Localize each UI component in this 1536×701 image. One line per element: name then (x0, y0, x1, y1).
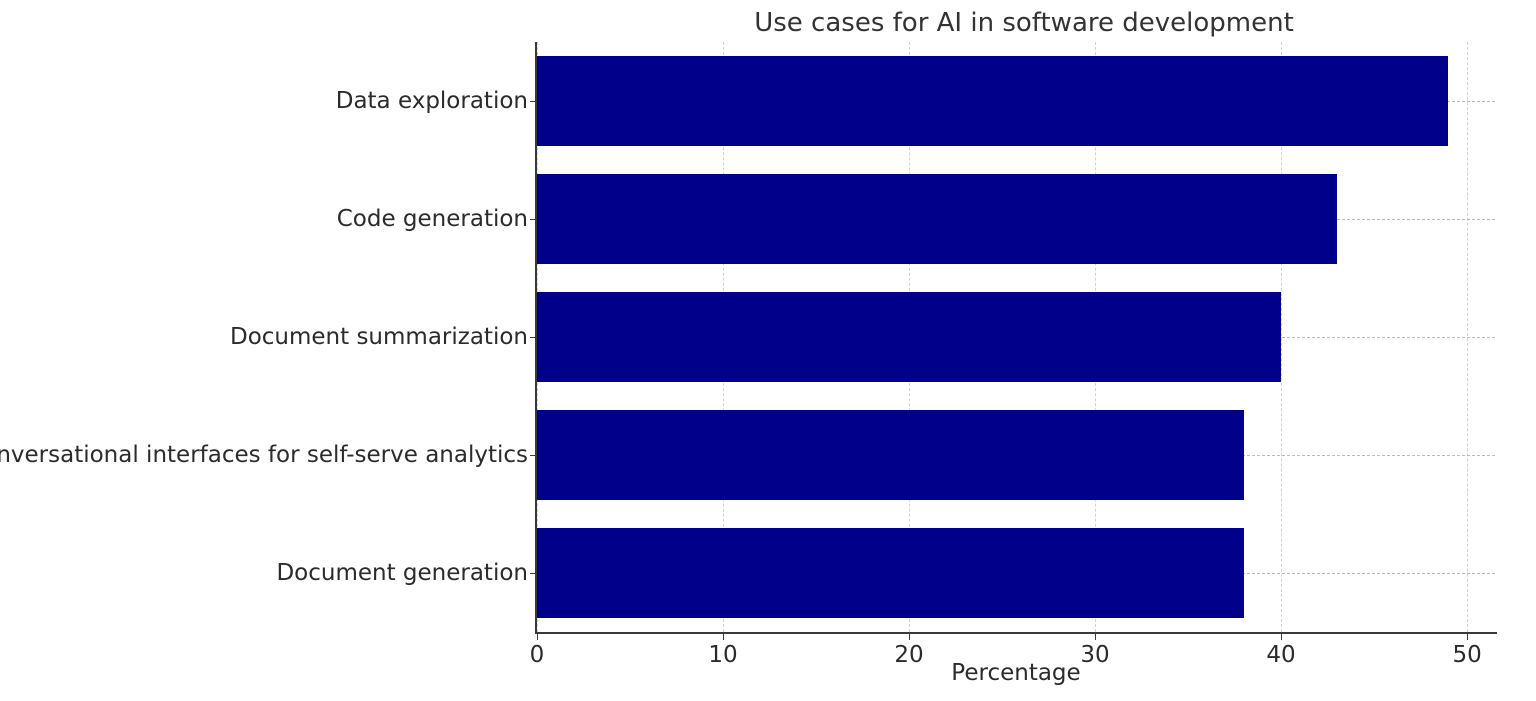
y-category-label: Conversational interfaces for self-serve… (0, 442, 528, 468)
x-tick-mark (1467, 634, 1468, 640)
x-tick-mark (1281, 634, 1282, 640)
bar (537, 292, 1281, 381)
x-tick-mark (1095, 634, 1096, 640)
y-tick-mark (530, 455, 537, 456)
y-tick-mark (530, 573, 537, 574)
x-tick-mark (909, 634, 910, 640)
y-category-label: Code generation (337, 206, 528, 232)
chart-title: Use cases for AI in software development (0, 8, 1536, 38)
bar (537, 56, 1448, 145)
x-axis-label: Percentage (537, 660, 1495, 686)
bar (537, 410, 1244, 499)
chart-figure: Use cases for AI in software development… (0, 0, 1536, 701)
y-tick-mark (530, 101, 537, 102)
chart-title-text: Use cases for AI in software development (754, 8, 1294, 38)
y-category-label: Document summarization (230, 324, 528, 350)
bar (537, 174, 1337, 263)
y-tick-mark (530, 219, 537, 220)
y-tick-mark (530, 337, 537, 338)
x-tick-mark (723, 634, 724, 640)
x-axis-spine (535, 632, 1497, 634)
y-category-label: Data exploration (336, 88, 528, 114)
bar (537, 528, 1244, 617)
plot-area: 01020304050 (537, 42, 1495, 632)
y-category-label: Document generation (276, 560, 528, 586)
x-tick-mark (537, 634, 538, 640)
